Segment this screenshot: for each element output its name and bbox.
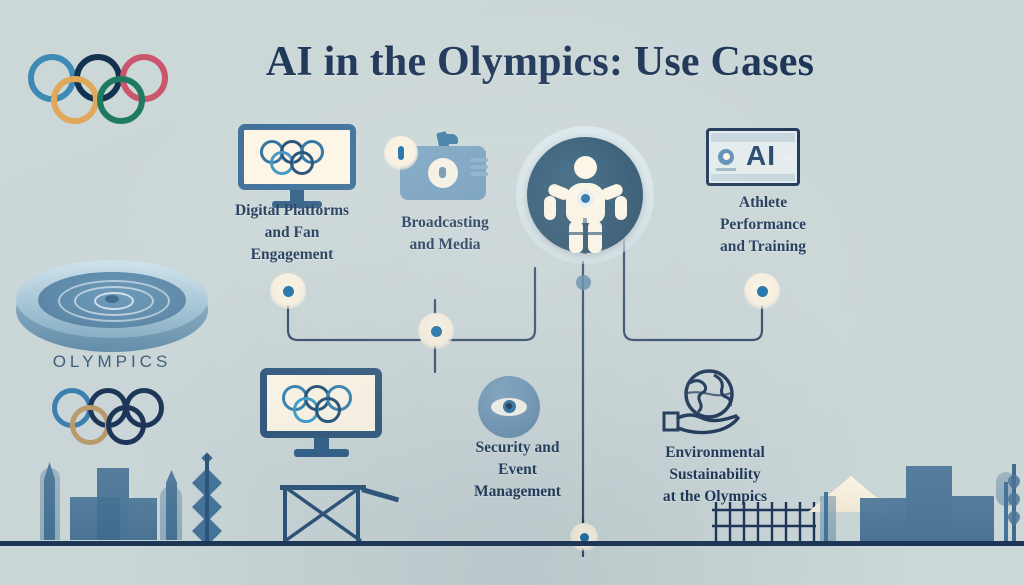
label-line: Performance	[678, 214, 848, 236]
infographic-canvas: AI in the Olympics: Use Cases	[0, 0, 1024, 585]
skyline-decoration	[0, 440, 1024, 585]
label-line: and Media	[370, 234, 520, 256]
broadcast-badge-icon	[384, 136, 418, 170]
ai-human-figure-icon[interactable]	[516, 126, 654, 264]
connector-node-left[interactable]	[270, 273, 306, 309]
stadium-illustration: OLYMPICS	[12, 258, 212, 370]
olympic-rings-lower-left	[52, 386, 178, 446]
broadcast-camera-icon[interactable]	[388, 132, 500, 200]
label-line: Broadcasting	[370, 212, 520, 234]
connector-node-middle[interactable]	[418, 313, 454, 349]
monitor-olympic-rings-icon[interactable]	[238, 124, 358, 210]
label-line: and Fan	[196, 222, 388, 244]
connector-node-right[interactable]	[744, 273, 780, 309]
label-line: and Training	[678, 236, 848, 258]
eye-surveillance-icon[interactable]	[478, 376, 540, 438]
label-athlete-performance: Athlete Performance and Training	[678, 192, 848, 258]
label-line: Athlete	[678, 192, 848, 214]
label-digital-platforms: Digital Platforms and Fan Engagement	[196, 200, 388, 266]
label-line: Engagement	[196, 244, 388, 266]
label-line: Digital Platforms	[196, 200, 388, 222]
spine-joint-dot	[576, 275, 591, 290]
ai-card-text: AI	[742, 142, 780, 170]
label-broadcasting: Broadcasting and Media	[370, 212, 520, 256]
stadium-caption: OLYMPICS	[12, 352, 212, 372]
ground-line	[0, 541, 1024, 546]
hand-holding-globe-icon[interactable]	[654, 366, 750, 438]
ai-card-icon[interactable]: AI	[706, 128, 800, 186]
chest-core-dot	[581, 194, 590, 203]
